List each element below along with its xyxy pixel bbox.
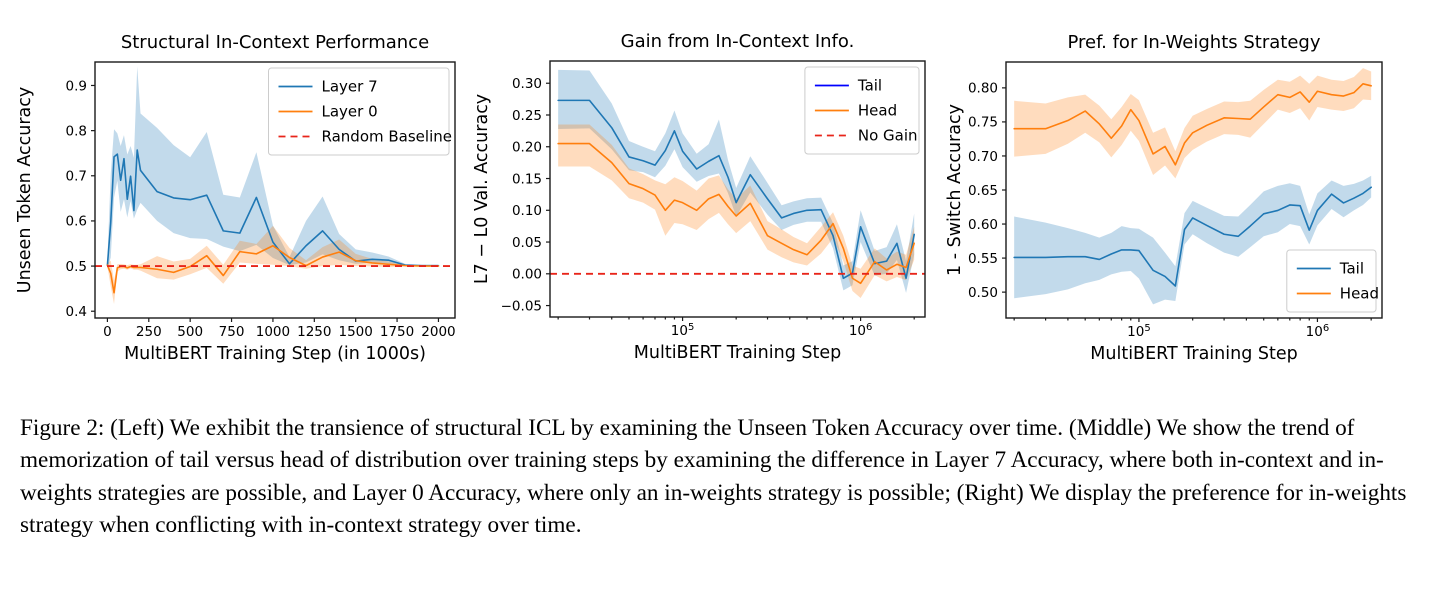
legend-label: No Gain xyxy=(858,127,918,145)
y-tick-label: 0.65 xyxy=(968,183,998,199)
chart-right: Pref. for In-Weights Strategy0.500.550.6… xyxy=(940,0,1448,390)
chart-panel-right: Pref. for In-Weights Strategy0.500.550.6… xyxy=(940,0,1448,390)
y-tick-label: 0.9 xyxy=(66,78,87,94)
confidence-band-head xyxy=(1014,68,1371,178)
chart-title: Structural In-Context Performance xyxy=(121,32,429,53)
x-tick-label: 1500 xyxy=(339,324,373,340)
y-tick-label: 0.10 xyxy=(512,203,542,219)
x-tick-label: 105 xyxy=(1127,323,1151,340)
y-axis-label: 1 - Switch Accuracy xyxy=(945,104,965,276)
legend-label: Layer 0 xyxy=(322,103,378,121)
legend-label: Head xyxy=(1340,285,1379,303)
x-tick-label: 0 xyxy=(103,324,112,340)
x-tick-label: 105 xyxy=(671,322,695,339)
y-tick-label: 0.50 xyxy=(968,285,998,301)
y-tick-label: 0.70 xyxy=(968,149,998,165)
chart-title: Pref. for In-Weights Strategy xyxy=(1068,32,1321,53)
chart-panel-left: Structural In-Context Performance0.40.50… xyxy=(0,0,490,390)
y-tick-label: −0.05 xyxy=(501,298,542,314)
y-tick-label: 0.60 xyxy=(968,217,998,233)
figure-caption: Figure 2: (Left) We exhibit the transien… xyxy=(20,412,1432,542)
y-tick-label: 0.20 xyxy=(512,140,542,156)
x-tick-label: 1750 xyxy=(380,324,414,340)
chart-panel-middle: Gain from In-Context Info.−0.050.000.050… xyxy=(470,0,960,390)
y-tick-label: 0.8 xyxy=(66,123,87,139)
x-tick-label: 1000 xyxy=(256,324,290,340)
y-tick-label: 0.30 xyxy=(512,76,542,92)
x-tick-label: 106 xyxy=(1306,323,1330,340)
x-tick-label: 250 xyxy=(136,324,162,340)
legend-label: Random Baseline xyxy=(322,128,452,146)
y-tick-label: 0.25 xyxy=(512,108,542,124)
y-axis-label: L7 − L0 Val. Accuracy xyxy=(472,94,492,284)
figure-panels: Structural In-Context Performance0.40.50… xyxy=(0,0,1448,390)
x-tick-label: 2000 xyxy=(421,324,455,340)
y-tick-label: 0.75 xyxy=(968,115,998,131)
y-axis-label: Unseen Token Accuracy xyxy=(15,87,35,293)
x-tick-label: 750 xyxy=(219,324,245,340)
y-tick-label: 0.05 xyxy=(512,235,542,251)
chart-legend: TailHead xyxy=(1287,250,1379,312)
legend-label: Tail xyxy=(857,77,882,95)
x-tick-label: 500 xyxy=(177,324,203,340)
legend-label: Tail xyxy=(1339,260,1364,278)
x-tick-label: 106 xyxy=(849,322,873,339)
y-tick-label: 0.7 xyxy=(66,169,87,185)
x-axis-label: MultiBERT Training Step xyxy=(634,343,841,363)
y-tick-label: 0.00 xyxy=(512,267,542,283)
y-tick-label: 0.4 xyxy=(66,304,87,320)
y-tick-label: 0.15 xyxy=(512,171,542,187)
legend-label: Layer 7 xyxy=(322,78,378,96)
x-axis-label: MultiBERT Training Step (in 1000s) xyxy=(124,344,426,364)
x-tick-label: 1250 xyxy=(297,324,331,340)
chart-title: Gain from In-Context Info. xyxy=(621,31,855,52)
y-tick-label: 0.6 xyxy=(66,214,87,230)
legend-label: Head xyxy=(858,102,897,120)
chart-legend: TailHeadNo Gain xyxy=(805,67,919,154)
chart-legend: Layer 7Layer 0Random Baseline xyxy=(269,68,452,155)
y-tick-label: 0.5 xyxy=(66,259,87,275)
chart-left: Structural In-Context Performance0.40.50… xyxy=(0,0,490,390)
y-tick-label: 0.80 xyxy=(968,81,998,97)
x-axis-label: MultiBERT Training Step xyxy=(1090,344,1297,364)
chart-middle: Gain from In-Context Info.−0.050.000.050… xyxy=(470,0,960,390)
y-tick-label: 0.55 xyxy=(968,251,998,267)
